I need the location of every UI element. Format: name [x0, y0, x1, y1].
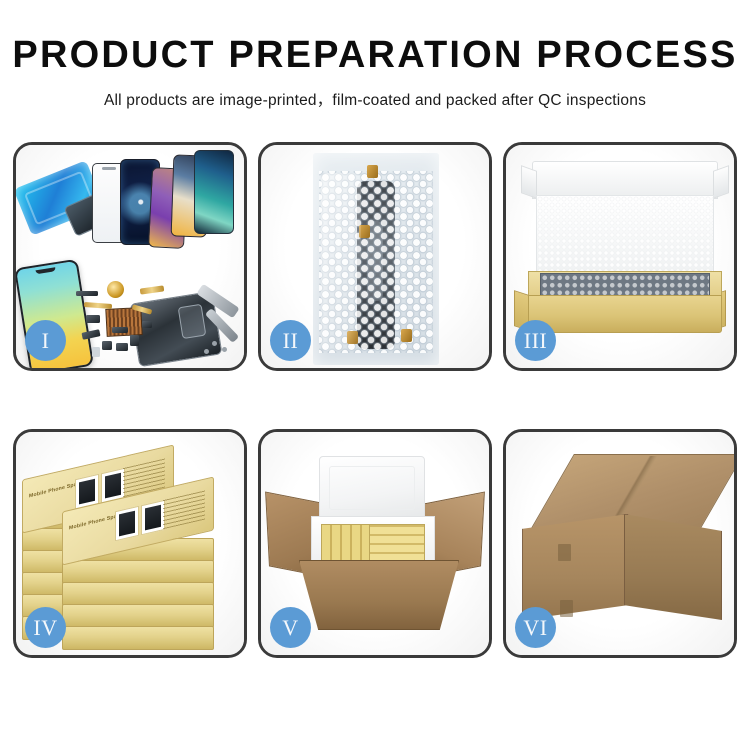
- retail-box-stack-item: [62, 560, 214, 584]
- process-step-panel-6: VI: [503, 429, 737, 658]
- step-badge-3: III: [515, 320, 556, 361]
- process-step-panel-3: III: [503, 142, 737, 371]
- bubble-wrapped-items-row: [540, 273, 710, 297]
- carton-left-face: [522, 514, 628, 620]
- spare-part: [86, 315, 100, 323]
- screw: [212, 341, 217, 346]
- page-subtitle: All products are image-printed，film-coat…: [0, 88, 750, 110]
- white-foam-sheet: [536, 195, 714, 273]
- box-window-right: [141, 500, 165, 536]
- gold-connector-tab: [367, 165, 378, 178]
- bubble-texture: [319, 171, 433, 353]
- styrofoam-lid: [319, 456, 425, 520]
- step-badge-2: II: [270, 320, 311, 361]
- page-title: PRODUCT PREPARATION PROCESS: [0, 36, 750, 76]
- gold-connector-tab: [401, 329, 412, 342]
- screw: [222, 347, 227, 352]
- spare-part: [116, 343, 128, 351]
- process-step-panel-5: V: [258, 429, 492, 658]
- carton-tape-patch: [560, 600, 573, 617]
- bubble-wrap-bag: [313, 153, 439, 365]
- phone-screen-teal: [194, 150, 234, 234]
- step-badge-1: I: [25, 320, 66, 361]
- box-lid-white: [532, 161, 718, 199]
- retail-box-stack-item: [62, 604, 214, 628]
- spare-part: [102, 341, 112, 350]
- carton-front-panel: [299, 560, 459, 630]
- process-step-panel-1: I: [13, 142, 247, 371]
- kraft-boxes-in-cooler-stacked: [369, 524, 425, 562]
- process-step-grid: I II III: [13, 142, 737, 658]
- process-step-panel-4: Mobile Phone Spare Parts Mobile Phone Sp…: [13, 429, 247, 658]
- header: PRODUCT PREPARATION PROCESS All products…: [0, 0, 750, 110]
- step-badge-6: VI: [515, 607, 556, 648]
- screw: [204, 349, 209, 354]
- spare-part: [92, 347, 100, 357]
- gold-connector-tab: [359, 225, 370, 238]
- flex-cable: [140, 285, 165, 294]
- carton-right-face: [624, 514, 722, 620]
- kraft-box-front: [528, 295, 722, 333]
- spare-part: [76, 291, 98, 296]
- retail-box-stack-item: [62, 582, 214, 606]
- box-spec-lines: [163, 490, 205, 530]
- gold-coil-part: [107, 281, 124, 298]
- box-window-left: [115, 506, 139, 542]
- spare-part: [142, 321, 152, 328]
- spare-part: [130, 335, 139, 346]
- step-badge-4: IV: [25, 607, 66, 648]
- carton-tape-patch: [558, 544, 571, 561]
- retail-box-stack-item: [62, 626, 214, 650]
- step-badge-5: V: [270, 607, 311, 648]
- process-step-panel-2: II: [258, 142, 492, 371]
- flex-cable: [84, 302, 112, 309]
- spare-part: [112, 327, 128, 333]
- gold-connector-tab: [347, 331, 358, 344]
